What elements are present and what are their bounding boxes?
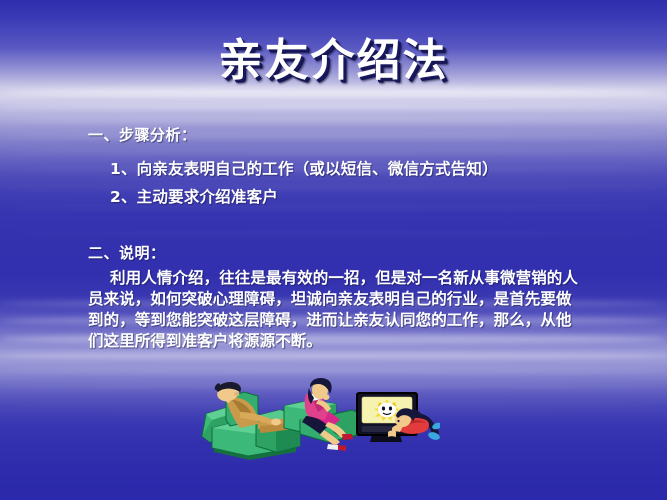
slide-title: 亲友介绍法: [219, 38, 449, 84]
slide-title-container: 亲友介绍法: [0, 38, 667, 84]
clipart-group: [202, 378, 440, 460]
family-watching-tv-clipart: [200, 376, 440, 462]
presentation-slide: 亲友介绍法 一、步骤分析： 1、向亲友表明自己的工作（或以短信、微信方式告知） …: [0, 0, 667, 500]
